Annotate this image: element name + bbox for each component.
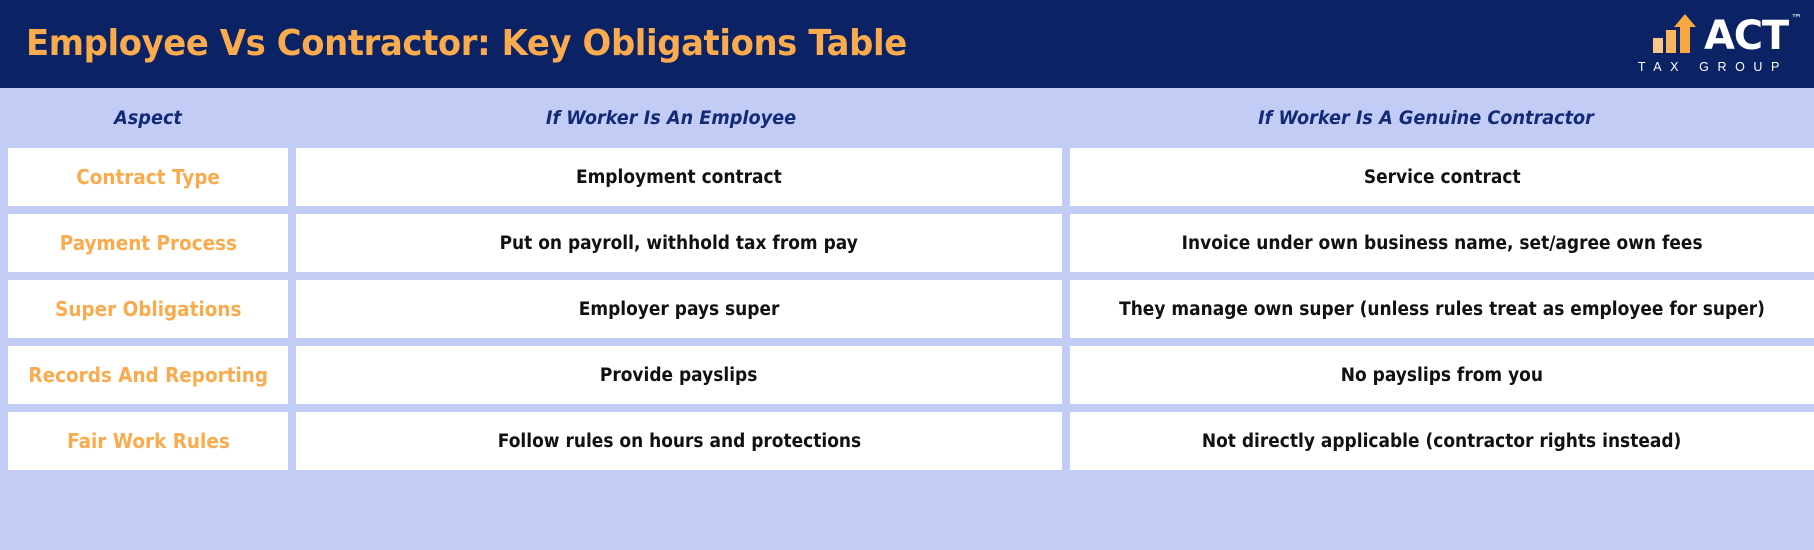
logo-wordmark-text: ACT: [1704, 13, 1788, 59]
table-row: Super Obligations Employer pays super Th…: [8, 280, 1806, 338]
aspect-label: Fair Work Rules: [67, 429, 230, 453]
aspect-label: Payment Process: [59, 231, 236, 255]
logo-wordmark: ACT ™: [1704, 17, 1788, 55]
act-tax-group-logo: ACT ™ TAX GROUP: [1638, 14, 1792, 74]
table-cell-employee: Provide payslips: [296, 346, 1062, 404]
employee-value: Follow rules on hours and protections: [497, 431, 860, 452]
employee-value: Employment contract: [576, 167, 782, 188]
employee-value: Employer pays super: [579, 299, 780, 320]
table-cell-contractor: Not directly applicable (contractor righ…: [1070, 412, 1814, 470]
table-cell-contractor: No payslips from you: [1070, 346, 1814, 404]
table-header-row: Aspect If Worker Is An Employee If Worke…: [8, 88, 1806, 148]
page-banner: Employee Vs Contractor: Key Obligations …: [0, 0, 1814, 88]
trademark-icon: ™: [1791, 14, 1802, 24]
table-cell-employee: Put on payroll, withhold tax from pay: [296, 214, 1062, 272]
table-cell-contractor: Service contract: [1070, 148, 1814, 206]
table-cell-contractor: They manage own super (unless rules trea…: [1070, 280, 1814, 338]
obligations-table: Aspect If Worker Is An Employee If Worke…: [0, 88, 1814, 470]
logo-subtitle: TAX GROUP: [1638, 60, 1796, 74]
table-cell-aspect: Records And Reporting: [8, 346, 288, 404]
table-cell-aspect: Fair Work Rules: [8, 412, 288, 470]
column-header-contractor: If Worker Is A Genuine Contractor: [1080, 107, 1772, 129]
table-cell-aspect: Super Obligations: [8, 280, 288, 338]
table-cell-employee: Follow rules on hours and protections: [296, 412, 1062, 470]
table-cell-aspect: Payment Process: [8, 214, 288, 272]
table-cell-employee: Employer pays super: [296, 280, 1062, 338]
table-row: Contract Type Employment contract Servic…: [8, 148, 1806, 206]
contractor-value: No payslips from you: [1341, 365, 1543, 386]
contractor-value: Service contract: [1364, 167, 1521, 188]
employee-value: Provide payslips: [600, 365, 758, 386]
table-cell-employee: Employment contract: [296, 148, 1062, 206]
aspect-label: Records And Reporting: [28, 363, 268, 387]
table-row: Records And Reporting Provide payslips N…: [8, 346, 1806, 404]
table-cell-contractor: Invoice under own business name, set/agr…: [1070, 214, 1814, 272]
page-title: Employee Vs Contractor: Key Obligations …: [26, 26, 907, 62]
bar-chart-arrow-icon: [1651, 14, 1701, 54]
table-row: Fair Work Rules Follow rules on hours an…: [8, 412, 1806, 470]
table-cell-aspect: Contract Type: [8, 148, 288, 206]
table-row: Payment Process Put on payroll, withhold…: [8, 214, 1806, 272]
contractor-value: They manage own super (unless rules trea…: [1119, 299, 1765, 320]
column-header-aspect: Aspect: [18, 107, 278, 129]
contractor-value: Invoice under own business name, set/agr…: [1182, 233, 1703, 254]
aspect-label: Super Obligations: [55, 297, 241, 321]
logo-top-row: ACT ™: [1651, 14, 1788, 55]
column-header-employee: If Worker Is An Employee: [315, 107, 1027, 129]
employee-value: Put on payroll, withhold tax from pay: [500, 233, 858, 254]
contractor-value: Not directly applicable (contractor righ…: [1202, 431, 1681, 452]
aspect-label: Contract Type: [76, 165, 220, 189]
